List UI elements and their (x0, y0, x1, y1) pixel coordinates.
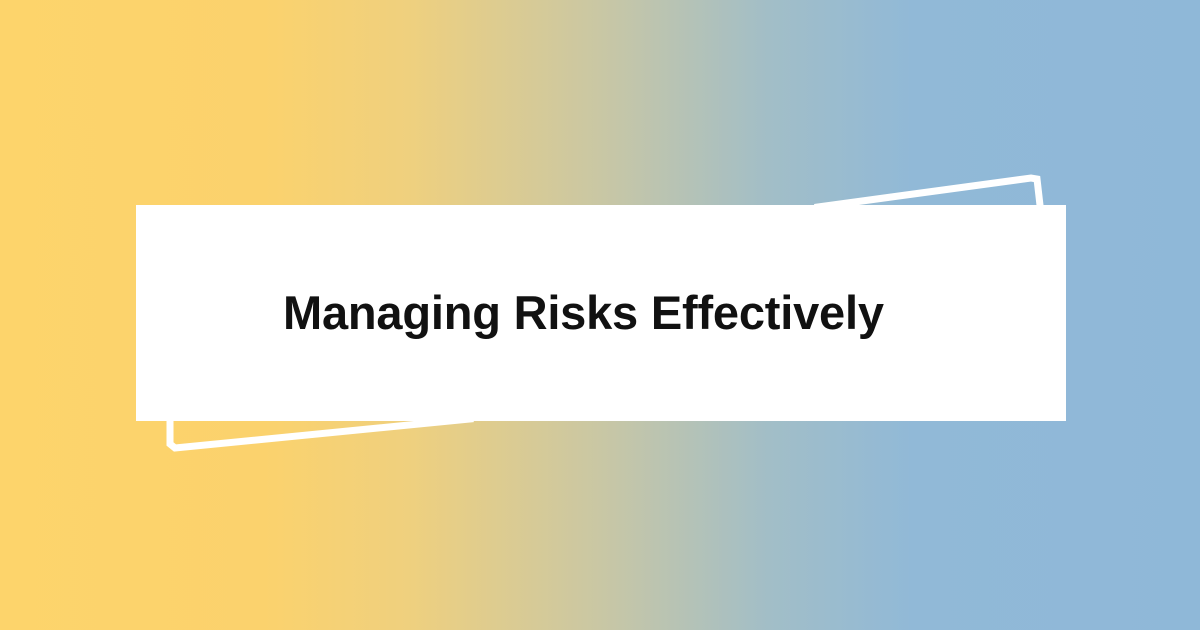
page-title: Managing Risks Effectively (283, 287, 884, 339)
title-banner: Managing Risks Effectively (0, 0, 1200, 630)
title-card: Managing Risks Effectively (136, 205, 1066, 421)
